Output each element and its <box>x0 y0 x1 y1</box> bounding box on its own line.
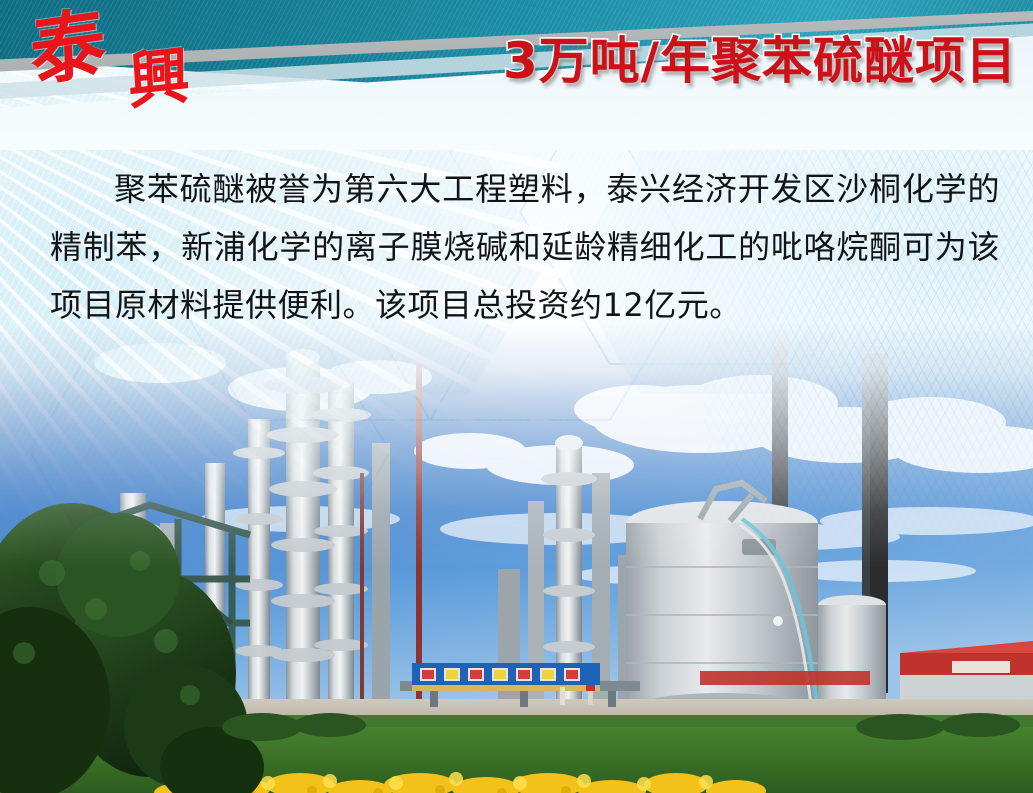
chemical-plant-photo <box>0 323 1033 793</box>
logo-char-tai: 泰 <box>29 5 107 92</box>
taixing-logo: 泰 興 <box>24 4 224 122</box>
page-title: 3万吨/年聚苯硫醚项目 <box>503 36 1017 86</box>
body-paragraph: 聚苯硫醚被誉为第六大工程塑料，泰兴经济开发区沙桐化学的精制苯，新浦化学的离子膜烧… <box>50 160 1000 334</box>
slide-root: 泰 興 3万吨/年聚苯硫醚项目 聚苯硫醚被誉为第六大工程塑料，泰兴经济开发区沙桐… <box>0 0 1033 793</box>
body-paragraph-block: 聚苯硫醚被誉为第六大工程塑料，泰兴经济开发区沙桐化学的精制苯，新浦化学的离子膜烧… <box>50 160 1000 334</box>
logo-char-xing: 興 <box>127 45 191 114</box>
